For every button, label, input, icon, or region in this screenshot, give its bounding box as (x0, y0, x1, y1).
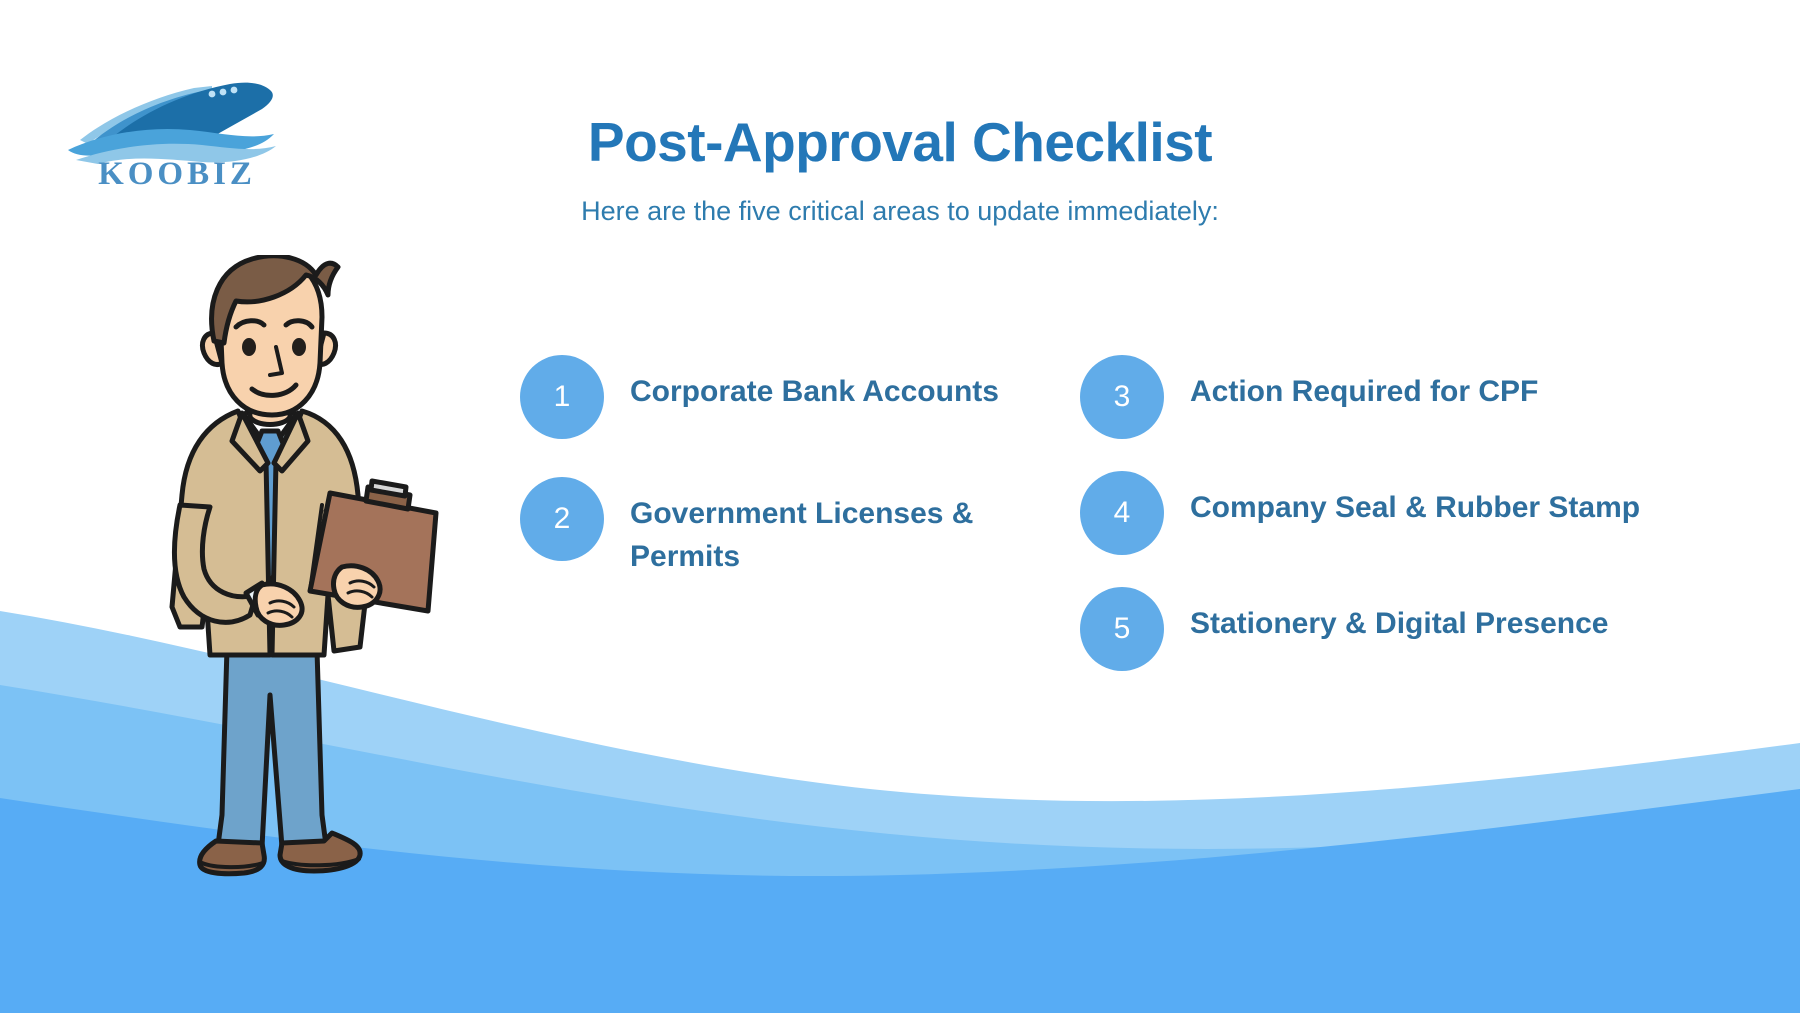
item-label: Action Required for CPF (1190, 355, 1538, 414)
item-number-badge: 3 (1080, 355, 1164, 439)
list-item[interactable]: 1 Corporate Bank Accounts (520, 355, 1000, 439)
list-item[interactable]: 2 Government Licenses & Permits (520, 477, 1000, 578)
item-label: Stationery & Digital Presence (1190, 587, 1608, 646)
item-number-badge: 2 (520, 477, 604, 561)
page-subtitle: Here are the five critical areas to upda… (380, 195, 1420, 227)
ship-wave-logo-icon (62, 68, 292, 168)
businessman-illustration (110, 255, 510, 895)
brand-logo[interactable]: KOOBIZ (62, 68, 292, 208)
item-number-badge: 1 (520, 355, 604, 439)
item-number-badge: 5 (1080, 587, 1164, 671)
item-label: Corporate Bank Accounts (630, 355, 999, 414)
brand-wordmark: KOOBIZ (62, 156, 292, 193)
slide-canvas: KOOBIZ Post-Approval Checklist Here are … (0, 0, 1800, 1013)
item-label: Government Licenses & Permits (630, 477, 1000, 578)
item-label: Company Seal & Rubber Stamp (1190, 471, 1640, 530)
page-title: Post-Approval Checklist (380, 112, 1420, 173)
checklist-column-left: 1 Corporate Bank Accounts 2 Government L… (520, 355, 1000, 616)
item-number-badge: 4 (1080, 471, 1164, 555)
list-item[interactable]: 3 Action Required for CPF (1080, 355, 1680, 439)
header: Post-Approval Checklist Here are the fiv… (380, 112, 1420, 227)
checklist-column-right: 3 Action Required for CPF 4 Company Seal… (1080, 355, 1680, 703)
list-item[interactable]: 4 Company Seal & Rubber Stamp (1080, 471, 1680, 555)
list-item[interactable]: 5 Stationery & Digital Presence (1080, 587, 1680, 671)
checklist: 1 Corporate Bank Accounts 2 Government L… (520, 355, 1730, 703)
